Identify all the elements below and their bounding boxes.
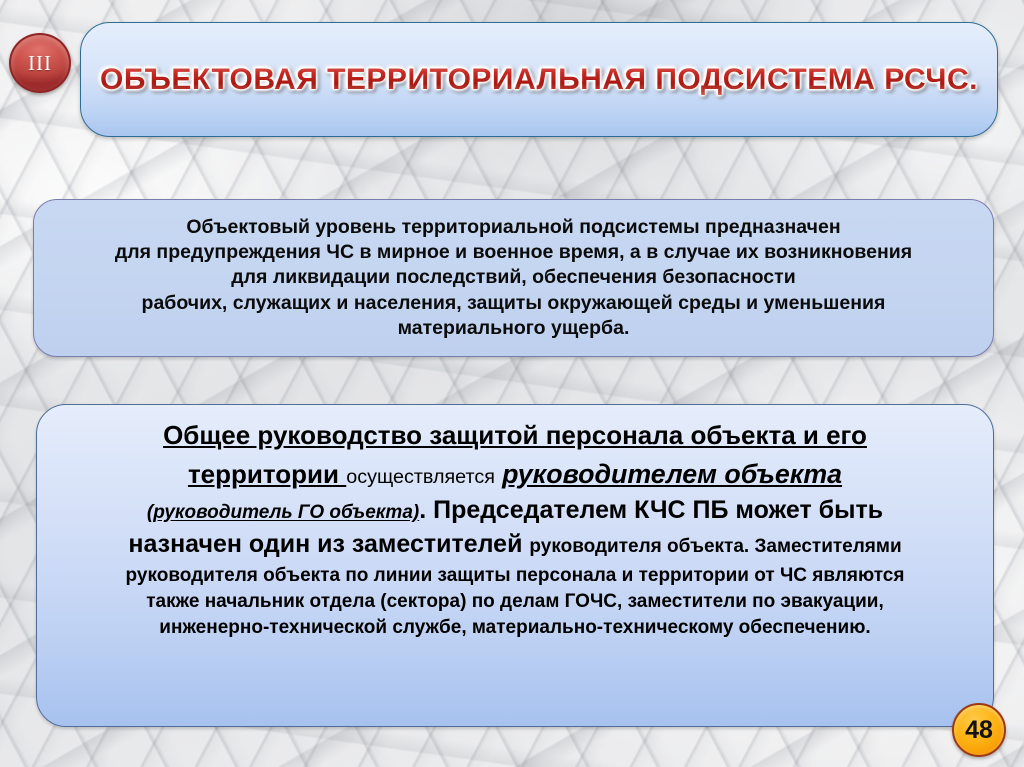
page-number-label: 48 [965, 718, 993, 743]
leadership-line-3-bold: . Председателем КЧС ПБ может быть [419, 496, 883, 524]
leadership-line-1: Общее руководство защитой персонала объе… [61, 419, 969, 453]
leadership-line-2-underlined: территории [188, 459, 339, 489]
leadership-line-7: инженерно-технической службе, материальн… [61, 615, 969, 641]
page-title: ОБЪЕКТОВАЯ ТЕРРИТОРИАЛЬНАЯ ПОДСИСТЕМА РС… [100, 63, 978, 97]
page-number-badge: 48 [952, 703, 1006, 757]
intro-line-1: Объектовый уровень территориальной подси… [115, 215, 912, 240]
leadership-line-2-emphasis: руководителем объекта [502, 459, 842, 489]
leadership-text-panel: Общее руководство защитой персонала объе… [36, 404, 994, 727]
chapter-badge: III [9, 33, 71, 93]
leadership-line-2-regular: осуществляется [346, 466, 495, 488]
intro-line-5: материального ущерба. [115, 316, 912, 341]
leadership-line-5: руководителя объекта по линии защиты пер… [61, 563, 969, 589]
leadership-text-block: Общее руководство защитой персонала объе… [37, 405, 993, 647]
slide-canvas: III ОБЪЕКТОВАЯ ТЕРРИТОРИАЛЬНАЯ ПОДСИСТЕМ… [0, 0, 1024, 767]
leadership-line-6: также начальник отдела (сектора) по дела… [61, 589, 969, 615]
intro-text-panel: Объектовый уровень территориальной подси… [33, 199, 994, 357]
intro-line-2: для предупреждения ЧС в мирное и военное… [115, 240, 912, 265]
intro-line-3: для ликвидации последствий, обеспечения … [115, 265, 912, 290]
title-panel: ОБЪЕКТОВАЯ ТЕРРИТОРИАЛЬНАЯ ПОДСИСТЕМА РС… [80, 22, 998, 137]
intro-text-block: Объектовый уровень территориальной подси… [89, 215, 938, 342]
chapter-badge-label: III [28, 53, 52, 74]
leadership-line-3-parenthetical: (руководитель ГО объекта) [147, 502, 419, 523]
leadership-line-4-small: руководителя объекта. Заместителями [529, 536, 901, 557]
leadership-line-2: территории осуществляется руководителем … [61, 457, 969, 492]
intro-line-4: рабочих, служащих и населения, защиты ок… [115, 291, 912, 316]
leadership-line-4: назначен один из заместителей руководите… [61, 528, 969, 561]
leadership-line-4-large: назначен один из заместителей [128, 530, 522, 558]
leadership-line-3: (руководитель ГО объекта). Председателем… [61, 494, 969, 527]
leadership-line-1-underlined: Общее руководство защитой персонала объе… [163, 420, 867, 450]
